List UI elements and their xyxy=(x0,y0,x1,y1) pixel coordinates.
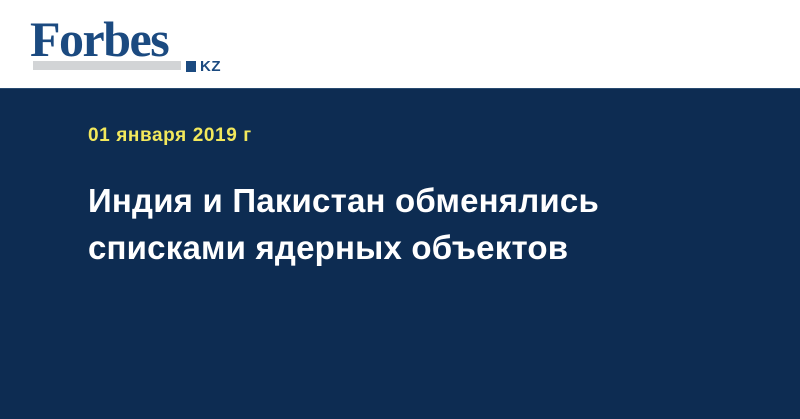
logo-underline-rule xyxy=(33,61,181,70)
article-header-page: Forbes KZ 01 января 2019 г Индия и Пакис… xyxy=(0,0,800,419)
article-hero-band: 01 января 2019 г Индия и Пакистан обменя… xyxy=(0,88,800,419)
logo-kz-text: KZ xyxy=(200,59,221,74)
article-headline: Индия и Пакистан обменялись списками яде… xyxy=(88,177,688,271)
forbes-kz-logo[interactable]: Forbes KZ xyxy=(30,14,230,76)
article-hero-content: 01 января 2019 г Индия и Пакистан обменя… xyxy=(88,125,708,271)
article-publish-date: 01 января 2019 г xyxy=(88,125,708,147)
square-icon xyxy=(186,61,196,72)
site-masthead: Forbes KZ xyxy=(0,0,800,88)
logo-kz-group: KZ xyxy=(186,59,221,74)
logo-wordmark-text: Forbes xyxy=(30,14,168,64)
